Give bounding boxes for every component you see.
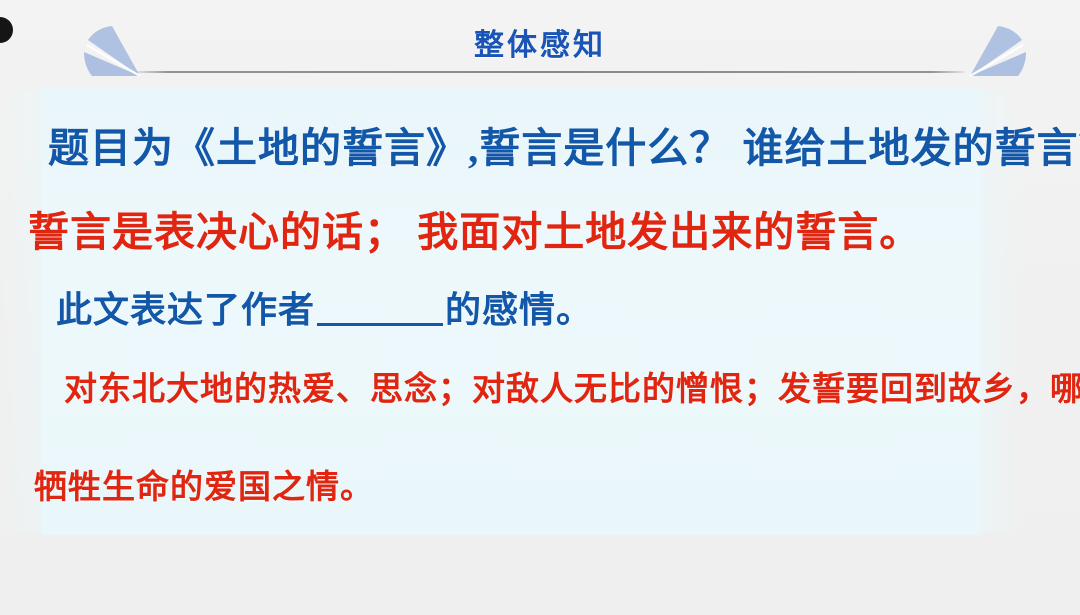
question-line: 题目为《土地的誓言》,誓言是什么？ 谁给土地发的誓言？ bbox=[48, 128, 1080, 169]
fill-in-suffix: 的感情。 bbox=[445, 290, 593, 330]
header-divider bbox=[135, 71, 965, 73]
slide-header: 整体感知 bbox=[0, 0, 1080, 86]
page-title: 整体感知 bbox=[0, 20, 1080, 64]
fill-in-prefix: 此文表达了作者 bbox=[56, 290, 315, 330]
fill-in-line: 此文表达了作者的感情。 bbox=[56, 292, 593, 328]
slide-root: 整体感知 题目为《土地的誓言》,誓言是什么？ 谁给土地发的誓言？ 誓言是表决心的… bbox=[0, 0, 1080, 615]
answer-line-2b: 牺牲生命的爱国之情。 bbox=[34, 472, 374, 505]
fill-in-blank[interactable] bbox=[317, 323, 443, 326]
answer-line-1: 誓言是表决心的话； 我面对土地发出来的誓言。 bbox=[28, 212, 921, 253]
answer-line-2a: 对东北大地的热爱、思念；对敌人无比的憎恨；发誓要回到故乡，哪怕 bbox=[64, 374, 1080, 407]
fan-wedge-icon bbox=[78, 18, 142, 80]
fan-wedge-icon bbox=[968, 18, 1032, 80]
panel-edge-left bbox=[0, 92, 44, 532]
